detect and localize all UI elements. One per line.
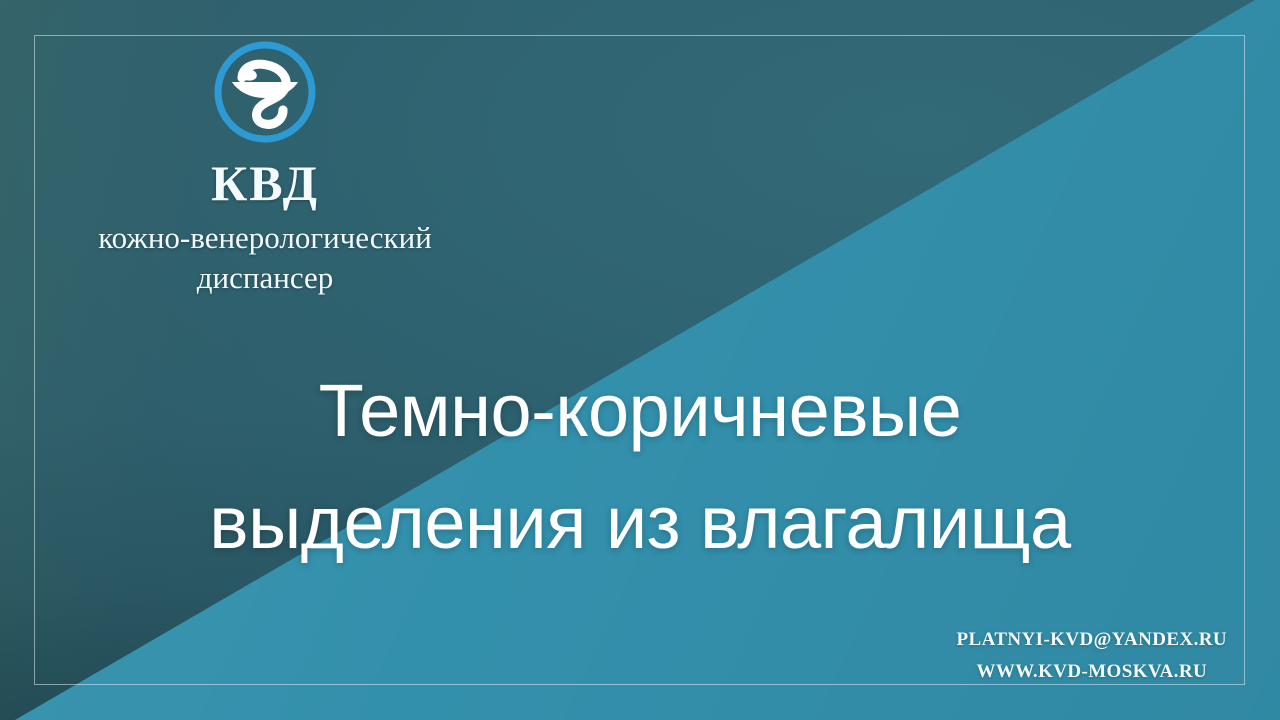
brand-block: КВД кожно-венерологический диспансер (0, 38, 530, 297)
brand-name-line-2: диспансер (0, 258, 530, 298)
title-card-slide: КВД кожно-венерологический диспансер Тем… (0, 0, 1280, 720)
contact-email: PLATNYI-KVD@YANDEX.RU (957, 624, 1227, 655)
contact-info: PLATNYI-KVD@YANDEX.RU WWW.KVD-MOSKVA.RU (957, 624, 1227, 687)
page-title-line-2: выделения из влагалища (60, 467, 1220, 579)
brand-name-line-1: кожно-венерологический (0, 218, 530, 258)
contact-website: WWW.KVD-MOSKVA.RU (957, 656, 1227, 687)
page-title-line-1: Темно-коричневые (60, 355, 1220, 467)
brand-abbreviation: КВД (0, 158, 530, 208)
bowl-of-hygieia-icon (211, 38, 319, 146)
page-title: Темно-коричневые выделения из влагалища (60, 355, 1220, 579)
